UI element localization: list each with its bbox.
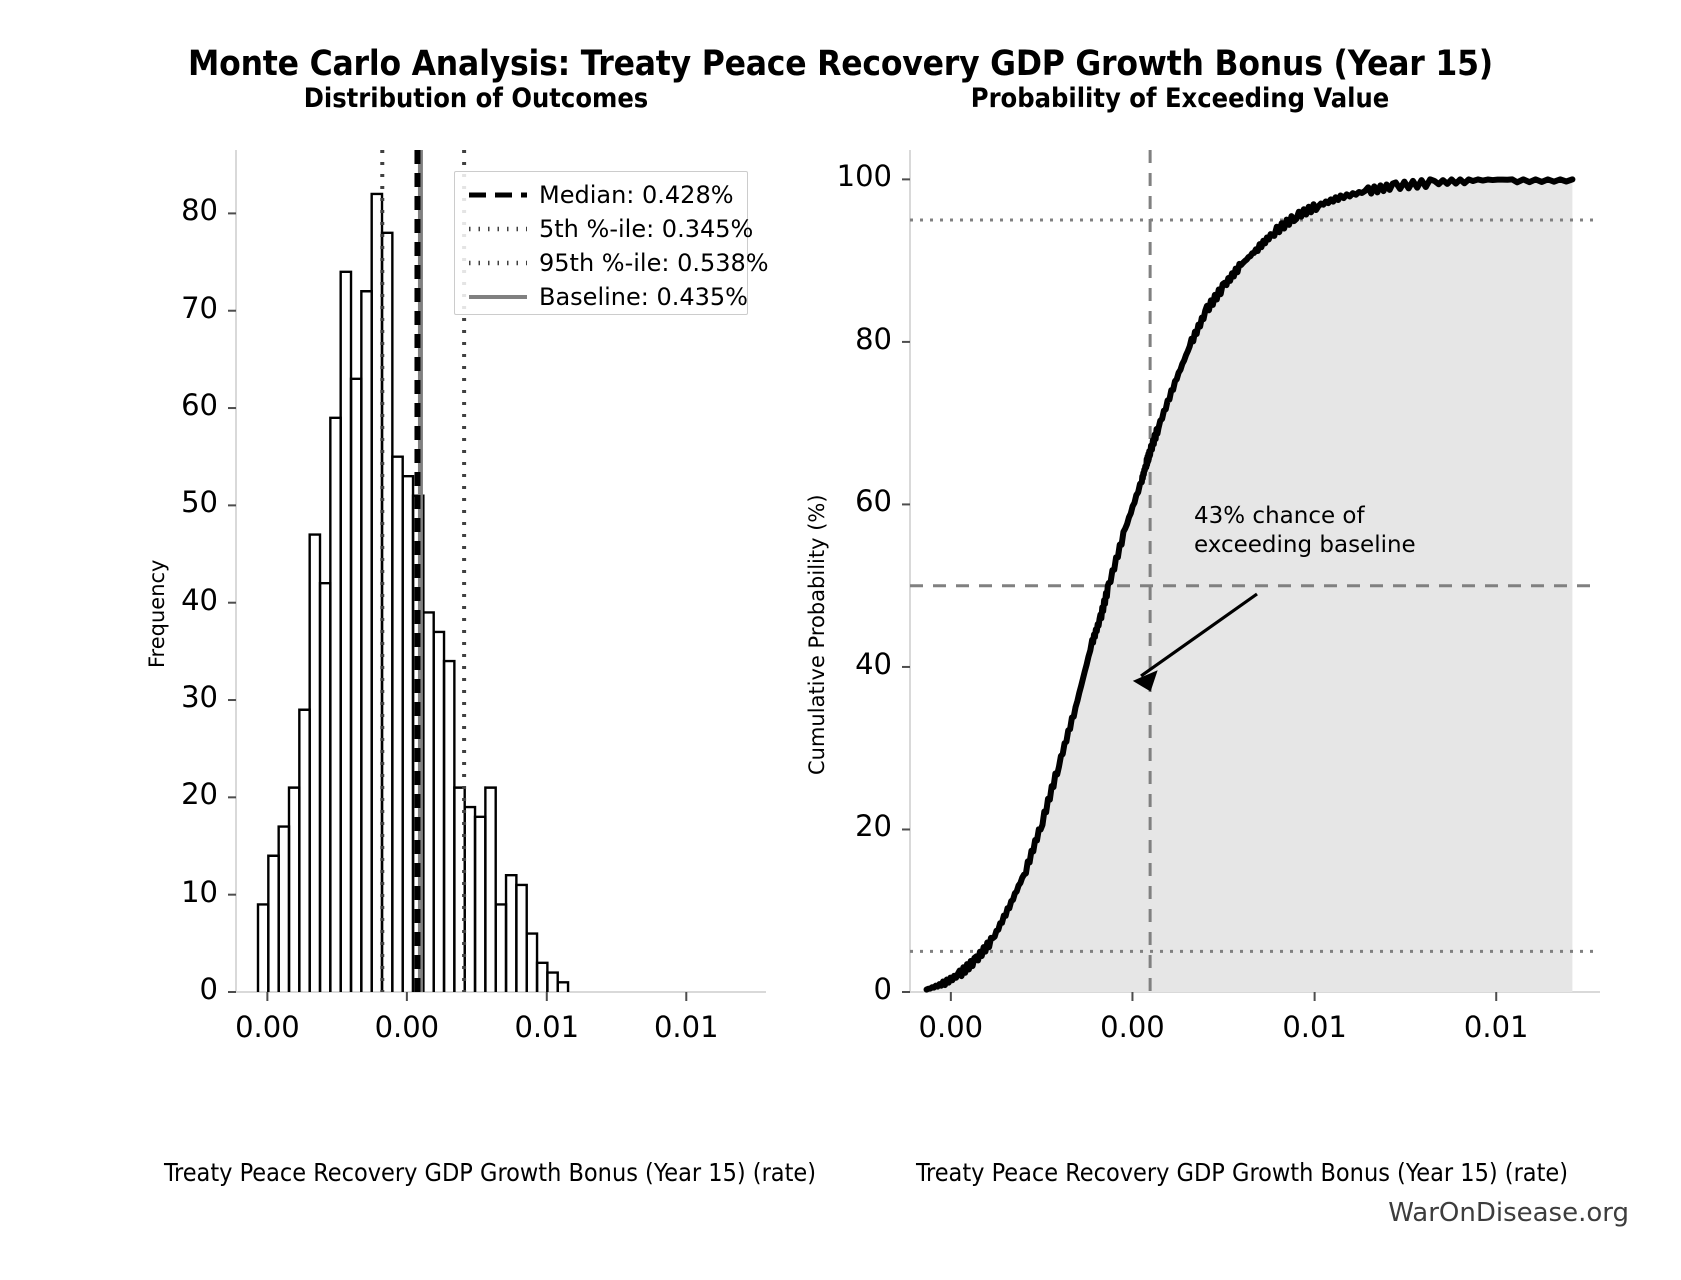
- left-xlabel: Treaty Peace Recovery GDP Growth Bonus (…: [100, 1158, 880, 1187]
- x-tick-label: 0.01: [1245, 1010, 1385, 1044]
- right-xlabel: Treaty Peace Recovery GDP Growth Bonus (…: [802, 1158, 1681, 1187]
- y-tick-label: 20: [126, 777, 218, 811]
- y-tick-label: 50: [126, 485, 218, 519]
- y-tick-label: 80: [780, 322, 892, 356]
- legend-key-solid-icon: [465, 279, 531, 315]
- y-tick-label: 20: [780, 809, 892, 843]
- legend-key-dashed-icon: [465, 177, 531, 213]
- x-tick-label: 0.01: [1426, 1010, 1566, 1044]
- figure-canvas: Monte Carlo Analysis: Treaty Peace Recov…: [0, 0, 1681, 1280]
- y-tick-label: 0: [780, 972, 892, 1006]
- x-tick-label: 0.00: [197, 1010, 337, 1044]
- y-tick-label: 60: [780, 484, 892, 518]
- x-tick-label: 0.01: [616, 1010, 756, 1044]
- legend-key-dotted-icon: [465, 211, 531, 247]
- watermark: WarOnDisease.org: [1388, 1198, 1629, 1228]
- y-tick-label: 40: [126, 583, 218, 617]
- legend-label-baseline: Baseline: 0.435%: [539, 283, 748, 311]
- legend-item-p95[interactable]: 95th %-ile: 0.538%: [455, 245, 747, 281]
- y-tick-label: 80: [126, 193, 218, 227]
- legend-item-p5[interactable]: 5th %-ile: 0.345%: [455, 211, 747, 247]
- x-tick-label: 0.00: [337, 1010, 477, 1044]
- legend-label-p95: 95th %-ile: 0.538%: [539, 249, 769, 277]
- legend-item-median[interactable]: Median: 0.428%: [455, 177, 747, 213]
- y-tick-label: 40: [780, 647, 892, 681]
- legend-key-dotted2-icon: [465, 245, 531, 281]
- cdf-annotation: 43% chance of exceeding baseline: [1194, 502, 1416, 560]
- legend-label-p5: 5th %-ile: 0.345%: [539, 215, 753, 243]
- left-ylabel: Frequency: [145, 560, 169, 669]
- right-ylabel: Cumulative Probability (%): [805, 494, 829, 775]
- y-tick-label: 10: [126, 875, 218, 909]
- y-tick-label: 30: [126, 680, 218, 714]
- x-tick-label: 0.00: [881, 1010, 1021, 1044]
- y-tick-label: 70: [126, 291, 218, 325]
- x-tick-label: 0.01: [477, 1010, 617, 1044]
- legend-label-median: Median: 0.428%: [539, 181, 734, 209]
- y-tick-label: 0: [126, 972, 218, 1006]
- x-tick-label: 0.00: [1062, 1010, 1202, 1044]
- y-tick-label: 60: [126, 388, 218, 422]
- legend[interactable]: Median: 0.428% 5th %-ile: 0.345% 95th %-…: [454, 171, 748, 315]
- legend-item-baseline[interactable]: Baseline: 0.435%: [455, 279, 747, 315]
- y-tick-label: 100: [780, 159, 892, 193]
